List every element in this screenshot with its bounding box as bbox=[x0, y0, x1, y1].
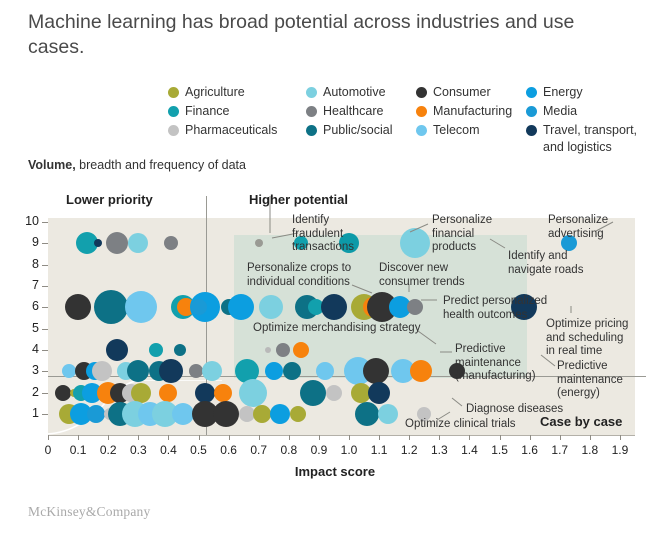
x-axis-tick-mark bbox=[349, 435, 350, 440]
y-axis-tick-label: 5 bbox=[19, 321, 39, 335]
x-axis-tick-mark bbox=[259, 435, 260, 440]
annotation-label: Predictive maintenance (manufacturing) bbox=[455, 343, 536, 384]
x-axis-tick-label: 0.4 bbox=[155, 443, 181, 457]
x-axis-tick-mark bbox=[229, 435, 230, 440]
x-axis-tick-mark bbox=[590, 435, 591, 440]
x-axis-tick-label: 0.9 bbox=[306, 443, 332, 457]
annotation-label: Predict personalized health outcomes bbox=[443, 295, 547, 322]
x-axis-title: Impact score bbox=[0, 464, 670, 479]
leader-line bbox=[410, 224, 428, 232]
y-axis-tick-mark bbox=[42, 243, 48, 244]
x-axis-tick-mark bbox=[78, 435, 79, 440]
y-axis-tick-mark bbox=[42, 350, 48, 351]
annotation-label: Optimize pricing and scheduling in real … bbox=[546, 318, 628, 359]
x-axis-tick-mark bbox=[469, 435, 470, 440]
leader-line bbox=[352, 285, 372, 293]
y-axis-tick-label: 2 bbox=[19, 385, 39, 399]
y-axis-tick-mark bbox=[42, 265, 48, 266]
x-axis-tick-mark bbox=[289, 435, 290, 440]
x-axis-tick-label: 1.7 bbox=[547, 443, 573, 457]
annotation-label: Personalize crops to individual conditio… bbox=[247, 262, 351, 289]
x-axis-tick-label: 0.8 bbox=[276, 443, 302, 457]
x-axis-tick-label: 0 bbox=[35, 443, 61, 457]
x-axis-tick-mark bbox=[138, 435, 139, 440]
y-axis-tick-label: 4 bbox=[19, 342, 39, 356]
leader-line bbox=[452, 398, 462, 406]
x-axis-tick-label: 0.7 bbox=[246, 443, 272, 457]
x-axis-tick-mark bbox=[199, 435, 200, 440]
x-axis-tick-label: 1.3 bbox=[426, 443, 452, 457]
chart-plot-area: Lower priority Higher potential Case by … bbox=[0, 0, 670, 539]
y-axis-tick-mark bbox=[42, 222, 48, 223]
y-axis-tick-mark bbox=[42, 286, 48, 287]
annotation-label: Optimize clinical trials bbox=[405, 418, 516, 432]
annotation-label: Diagnose diseases bbox=[466, 403, 563, 417]
x-axis-tick-mark bbox=[48, 435, 49, 440]
y-axis-tick-mark bbox=[42, 329, 48, 330]
annotation-label: Identify fraudulent transactions bbox=[292, 214, 354, 255]
y-axis-tick-mark bbox=[42, 371, 48, 372]
x-axis-tick-label: 0.2 bbox=[95, 443, 121, 457]
x-axis-tick-mark bbox=[530, 435, 531, 440]
x-axis-tick-mark bbox=[560, 435, 561, 440]
x-axis-tick-mark bbox=[439, 435, 440, 440]
y-axis-tick-mark bbox=[42, 307, 48, 308]
x-axis-tick-label: 1.1 bbox=[366, 443, 392, 457]
x-axis-tick-label: 1.0 bbox=[336, 443, 362, 457]
x-axis-tick-label: 0.1 bbox=[65, 443, 91, 457]
x-axis-tick-label: 1.9 bbox=[607, 443, 633, 457]
leader-line bbox=[490, 239, 505, 248]
leader-line bbox=[418, 331, 436, 344]
x-axis-tick-mark bbox=[319, 435, 320, 440]
brand-footer: McKinsey&Company bbox=[28, 504, 150, 520]
y-axis-tick-mark bbox=[42, 414, 48, 415]
annotation-label: Predictive maintenance (energy) bbox=[557, 360, 623, 401]
y-axis-tick-label: 6 bbox=[19, 299, 39, 313]
x-axis-tick-mark bbox=[409, 435, 410, 440]
x-axis-tick-label: 1.2 bbox=[396, 443, 422, 457]
x-axis-tick-label: 0.3 bbox=[125, 443, 151, 457]
y-axis-tick-label: 3 bbox=[19, 363, 39, 377]
y-axis-tick-label: 7 bbox=[19, 278, 39, 292]
annotation-label: Optimize merchandising strategy bbox=[253, 322, 420, 336]
x-axis-tick-mark bbox=[108, 435, 109, 440]
annotation-label: Discover new consumer trends bbox=[379, 262, 465, 289]
y-axis-tick-label: 1 bbox=[19, 406, 39, 420]
x-axis-tick-label: 1.4 bbox=[456, 443, 482, 457]
annotation-label: Personalize financial products bbox=[432, 214, 492, 255]
x-axis-tick-mark bbox=[379, 435, 380, 440]
y-axis-tick-label: 10 bbox=[19, 214, 39, 228]
x-axis-tick-mark bbox=[620, 435, 621, 440]
annotation-label: Identify and navigate roads bbox=[508, 250, 583, 277]
y-axis-tick-label: 8 bbox=[19, 257, 39, 271]
x-axis-tick-label: 1.6 bbox=[517, 443, 543, 457]
x-axis-tick-label: 0.5 bbox=[186, 443, 212, 457]
x-axis-tick-label: 1.5 bbox=[487, 443, 513, 457]
x-axis-tick-label: 1.8 bbox=[577, 443, 603, 457]
x-axis-tick-mark bbox=[500, 435, 501, 440]
x-axis-tick-label: 0.6 bbox=[216, 443, 242, 457]
y-axis-tick-mark bbox=[42, 393, 48, 394]
x-axis-tick-mark bbox=[168, 435, 169, 440]
annotation-label: Personalize advertising bbox=[548, 214, 608, 241]
y-axis-tick-label: 9 bbox=[19, 235, 39, 249]
